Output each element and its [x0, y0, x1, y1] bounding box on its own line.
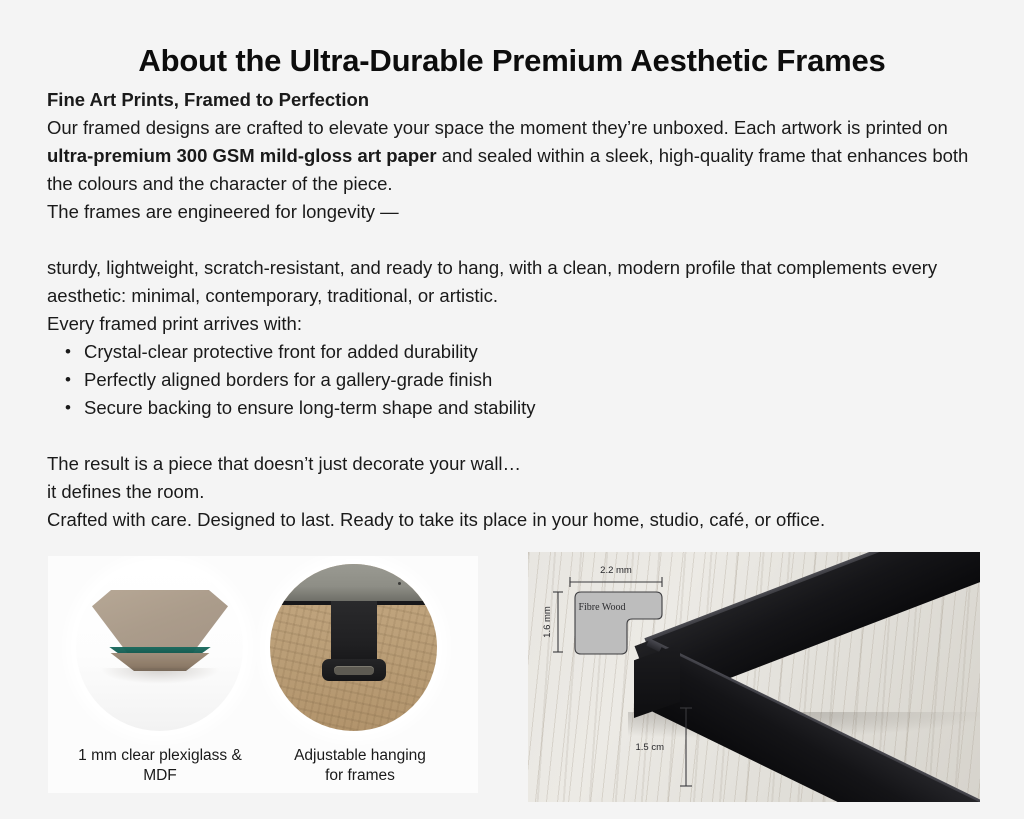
- mdf-drop-shadow: [100, 668, 220, 684]
- height-dimension-label: 1.6 mm: [542, 606, 553, 638]
- features-list: Crystal-clear protective front for added…: [47, 338, 987, 422]
- hanging-caption-line-2: for frames: [260, 766, 460, 786]
- page-title: About the Ultra-Durable Premium Aestheti…: [0, 43, 1024, 79]
- frame-profile-diagram: 2.2 mm 1.6 mm Fibre Wood: [542, 558, 712, 678]
- width-dimension-group: 2.2 mm: [570, 565, 662, 587]
- intro-part-1: Our framed designs are crafted to elevat…: [47, 117, 948, 138]
- page-root: About the Ultra-Durable Premium Aestheti…: [0, 0, 1024, 819]
- hanging-caption-line-1: Adjustable hanging: [260, 746, 460, 766]
- paper-spec-highlight: ultra-premium 300 GSM mild-gloss art pap…: [47, 145, 437, 166]
- list-intro: Every framed print arrives with:: [47, 310, 987, 338]
- depth-dimension-group: 1.5 cm: [635, 708, 692, 786]
- width-dimension-label: 2.2 mm: [600, 565, 632, 576]
- depth-dimension-label: 1.5 cm: [635, 742, 664, 753]
- intro-paragraph: Our framed designs are crafted to elevat…: [47, 114, 987, 198]
- hanging-bracket-slot: [334, 666, 374, 675]
- paragraph-gap-2: [47, 422, 987, 450]
- mdf-board-illustration: [92, 590, 228, 682]
- longevity-line: The frames are engineered for longevity …: [47, 198, 987, 226]
- adjustable-hanging-bracket-photo: [270, 564, 437, 731]
- list-item: Perfectly aligned borders for a gallery-…: [47, 366, 987, 394]
- mdf-photo-caption: 1 mm clear plexiglass & MDF: [60, 746, 260, 786]
- list-item: Crystal-clear protective front for added…: [47, 338, 987, 366]
- mdf-backboard-texture: [270, 564, 437, 731]
- lede-heading: Fine Art Prints, Framed to Perfection: [47, 86, 987, 114]
- hanging-photo-caption: Adjustable hanging for frames: [260, 746, 460, 786]
- paragraph-gap: [47, 226, 987, 254]
- height-dimension-group: 1.6 mm: [542, 592, 563, 652]
- closing-line-1: The result is a piece that doesn’t just …: [47, 450, 987, 478]
- surface-speck-icon: [398, 582, 401, 585]
- closing-line-3: Crafted with care. Designed to last. Rea…: [47, 506, 987, 534]
- depth-dimension-diagram: 1.5 cm: [624, 700, 714, 800]
- materials-figure-panel: 1 mm clear plexiglass & MDF Adjustable h…: [48, 556, 478, 793]
- mdf-plexiglass-board-photo: [76, 564, 243, 731]
- durability-paragraph: sturdy, lightweight, scratch-resistant, …: [47, 254, 987, 310]
- closing-line-2: it defines the room.: [47, 478, 987, 506]
- mdf-photo-backdrop: [76, 564, 243, 731]
- frame-profile-figure-panel: 2.2 mm 1.6 mm Fibre Wood 1.5 cm: [528, 552, 980, 802]
- frame-edge-top: [270, 564, 437, 605]
- materials-photo-row: [48, 556, 478, 734]
- list-item: Secure backing to ensure long-term shape…: [47, 394, 987, 422]
- body-copy: Fine Art Prints, Framed to Perfection Ou…: [47, 86, 987, 534]
- profile-material-label: Fibre Wood: [578, 602, 625, 613]
